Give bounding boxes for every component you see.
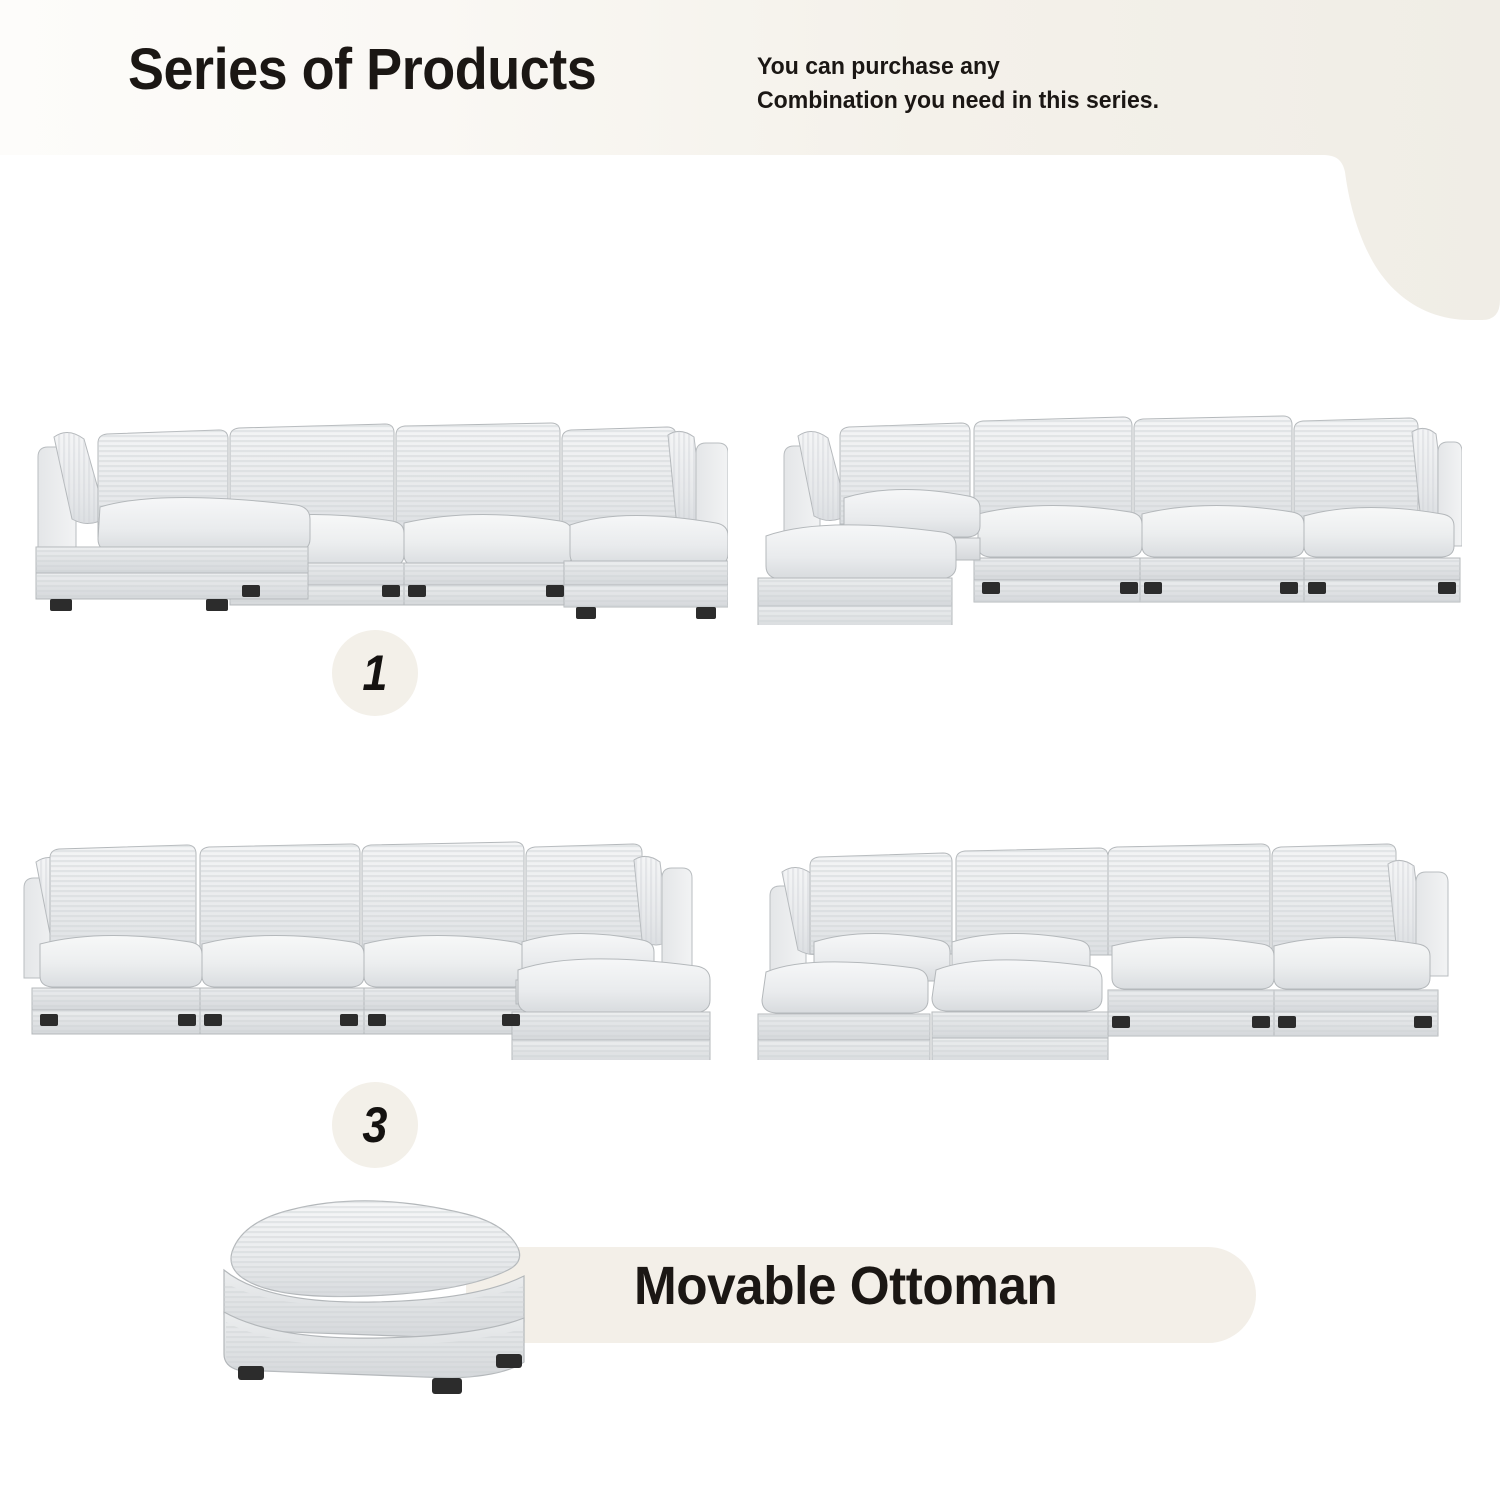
sofa-illustration-3 (10, 820, 720, 1060)
sofa-illustration-1 (18, 395, 728, 625)
config-badge-3: 3 (332, 1082, 418, 1168)
configuration-1[interactable]: 1 (18, 395, 728, 625)
configuration-4[interactable]: 4 (752, 820, 1462, 1060)
ottoman-callout-label: Movable Ottoman (634, 1255, 1057, 1317)
config-badge-3-number: 3 (362, 1100, 387, 1150)
header-subtitle: You can purchase any Combination you nee… (757, 50, 1159, 118)
configuration-3[interactable]: 3 (10, 820, 720, 1060)
sofa-illustration-4 (752, 820, 1462, 1060)
ottoman-illustration (196, 1186, 556, 1401)
page-title: Series of Products (128, 36, 596, 103)
configuration-2[interactable]: 2 (752, 390, 1462, 625)
config-badge-1: 1 (332, 630, 418, 716)
config-badge-1-number: 1 (362, 648, 387, 698)
sofa-illustration-2 (752, 390, 1462, 625)
